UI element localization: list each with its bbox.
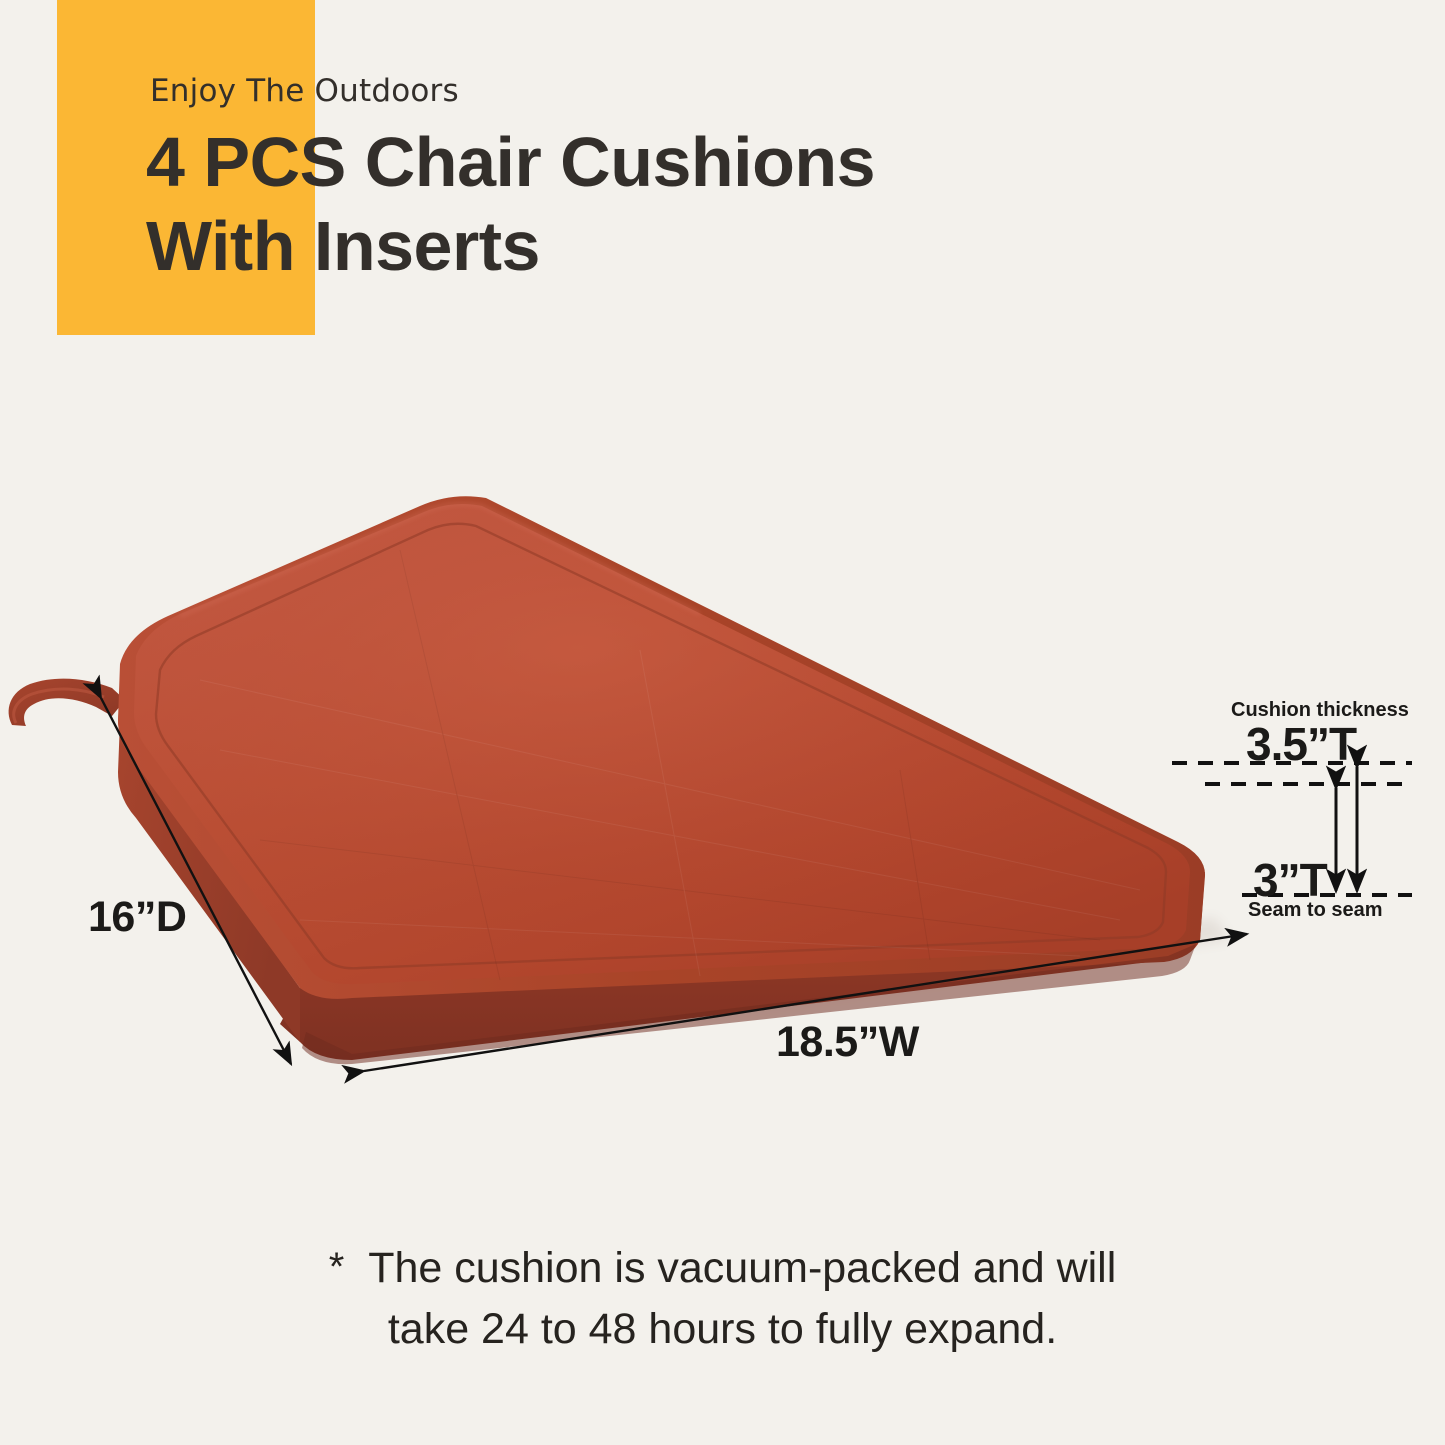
seam-to-seam-caption: Seam to seam — [1248, 899, 1383, 922]
footnote: * The cushion is vacuum-packed and will … — [0, 1238, 1445, 1360]
dimension-annotations — [0, 0, 1445, 1445]
overall-thickness-label: 3.5”T — [1246, 717, 1356, 771]
footnote-text-1: The cushion is vacuum-packed and will — [368, 1244, 1116, 1292]
width-label: 18.5”W — [776, 1018, 919, 1067]
depth-dimension-line — [101, 698, 291, 1064]
infographic-canvas: Enjoy The Outdoors 4 PCS Chair Cushions … — [0, 0, 1445, 1445]
footnote-marker: * — [329, 1245, 345, 1289]
footnote-text-2: take 24 to 48 hours to fully expand. — [0, 1299, 1445, 1360]
footnote-line-1: * The cushion is vacuum-packed and will — [0, 1238, 1445, 1299]
depth-label: 16”D — [88, 893, 186, 942]
